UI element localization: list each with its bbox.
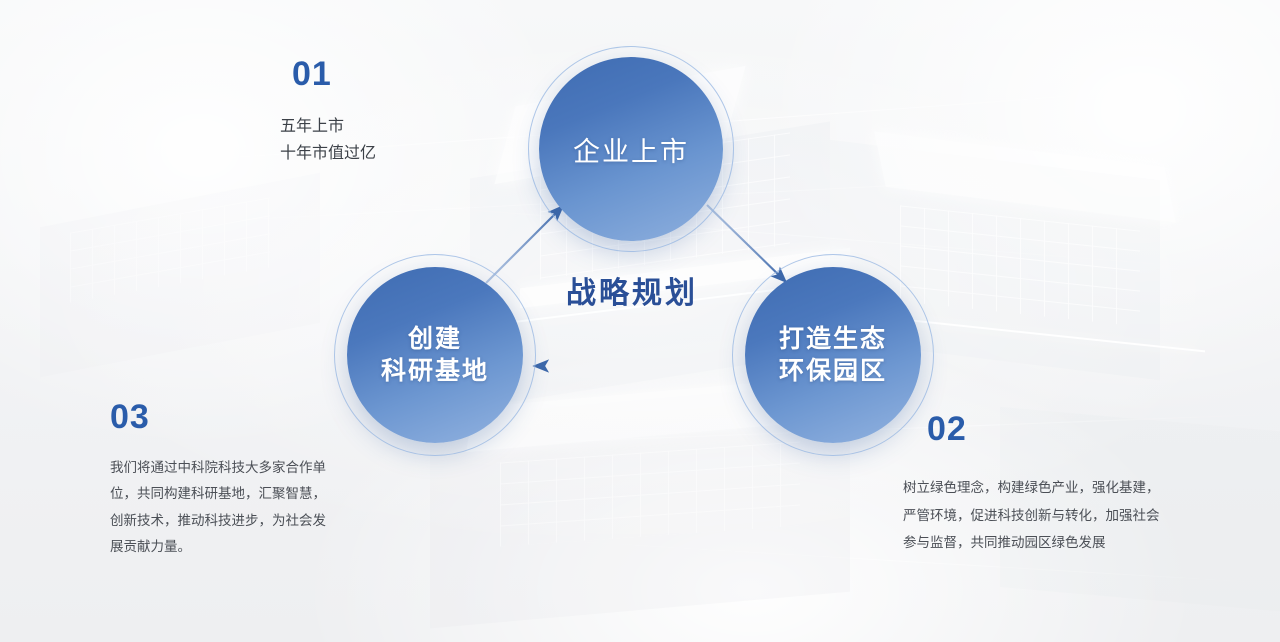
block-number-02: 02 xyxy=(927,410,967,449)
block-text-01: 五年上市 十年市值过亿 xyxy=(280,113,580,167)
strategic-plan-slide: 战略规划 企业上市 创建 科研基地 打造生态 环保园区 01 五年上市 十年市值… xyxy=(0,0,1280,642)
node-research-base[interactable]: 创建 科研基地 xyxy=(347,267,523,443)
block-number-03: 03 xyxy=(110,398,150,437)
node-label: 企业上市 xyxy=(573,130,689,169)
arrow-top-to-right xyxy=(707,205,786,282)
block-text-03: 我们将通过中科院科技大多家合作单 位，共同构建科研基地，汇聚智慧， 创新技术，推… xyxy=(110,455,400,560)
block-number-01: 01 xyxy=(292,55,332,94)
node-label: 打造生态 环保园区 xyxy=(779,323,887,387)
node-eco-park[interactable]: 打造生态 环保园区 xyxy=(745,267,921,443)
node-label: 创建 科研基地 xyxy=(381,323,489,387)
block-text-02: 树立绿色理念，构建绿色产业，强化基建， 严管环境，促进科技创新与转化，加强社会 … xyxy=(903,474,1253,557)
center-title: 战略规划 xyxy=(552,268,712,312)
